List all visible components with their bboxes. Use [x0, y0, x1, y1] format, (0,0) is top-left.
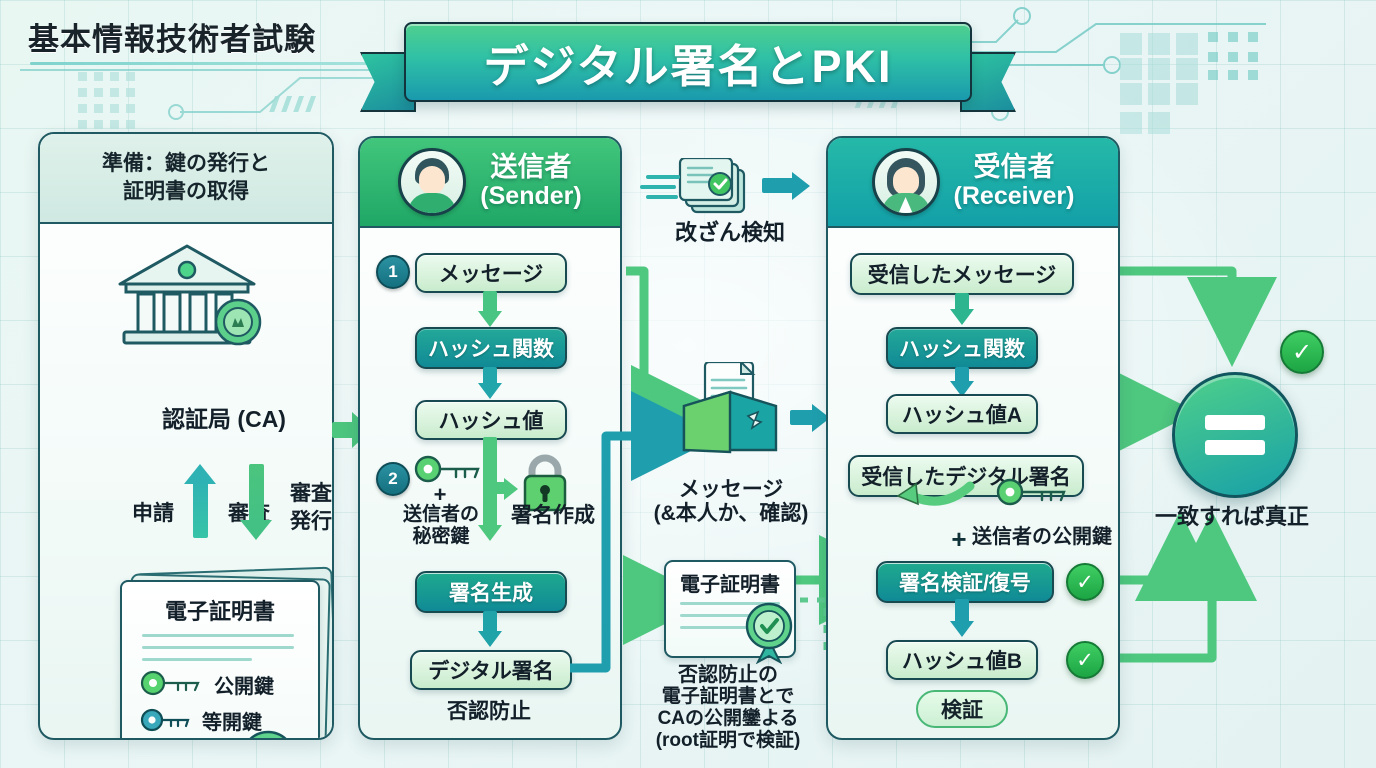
certificate-authority-icon: [112, 240, 262, 350]
public-key-icon: [140, 670, 202, 696]
tamper-detect-label: 改ざん検知: [640, 220, 820, 246]
node-hash-value-a: ハッシュ値A: [886, 394, 1038, 434]
preparation-title-line1: 準備：鍵の発行と: [102, 151, 270, 177]
certificate-rule-2: [142, 646, 294, 649]
result-check-icon: ✓: [1280, 330, 1324, 374]
receiver-title-jp: 受信者: [954, 153, 1075, 183]
certificate-check-seal-icon: [738, 600, 800, 664]
receiver-public-key-label: 送信者の公開鍵: [972, 526, 1152, 550]
sender-avatar: [398, 148, 466, 216]
node-message: メッセージ: [415, 253, 567, 293]
receiver-plus-sign: +: [946, 524, 972, 555]
hashB-check-icon: ✓: [1066, 641, 1104, 679]
equals-symbol: [1205, 415, 1265, 455]
motion-lines-icon: [640, 172, 682, 206]
cert-caption-line4: (root証明で検証): [628, 730, 828, 752]
middle-certificate-card: 電子証明書: [664, 560, 796, 658]
node-hash-value-b: ハッシュ値B: [886, 640, 1038, 680]
ca-label: 認証局 (CA): [78, 406, 334, 433]
message-caption-line1: メッセージ: [636, 478, 826, 503]
node-hash-function-sender: ハッシュ関数: [415, 327, 567, 369]
sender-step-2-badge: 2: [376, 462, 410, 496]
infographic-canvas: 基本情報技術者試験 デジタル署名とPKI 準備：鍵の発行と 証明書の取得: [0, 0, 1376, 768]
sign-creation-label: 署名作成: [498, 504, 608, 529]
ribbon-plate: デジタル署名とPKI: [404, 22, 972, 102]
sender-step-1-badge: 1: [376, 255, 410, 289]
tamper-detect-documents-icon: [676, 158, 756, 220]
receiver-avatar: [872, 148, 940, 216]
private-key-icon: [140, 708, 192, 732]
verify-check-icon: ✓: [1066, 563, 1104, 601]
middle-certificate-title: 電子証明書: [666, 568, 794, 597]
application-label: 申請: [124, 502, 182, 527]
node-hash-function-receiver: ハッシュ関数: [886, 327, 1038, 369]
page-title: 基本情報技術者試験: [28, 14, 316, 59]
sender-header: 送信者 (Sender): [360, 138, 620, 228]
ribbon-title: デジタル署名とPKI: [483, 30, 892, 95]
preparation-title-line2: 証明書の取得: [123, 179, 249, 205]
certificate-rule-1: [142, 634, 294, 637]
public-key-label: 公開鍵: [214, 670, 274, 699]
certificate-title: 電子証明書: [122, 594, 318, 626]
node-signature-generate: 署名生成: [415, 571, 567, 613]
receiver-title: 受信者 (Receiver): [954, 153, 1075, 211]
node-verify-decrypt: 署名検証/復号: [876, 561, 1054, 603]
issue-label: 発行: [276, 510, 334, 535]
sender-title-jp: 送信者: [480, 153, 581, 183]
match-result-circle: [1172, 372, 1298, 498]
node-hash-value-sender: ハッシュ値: [415, 400, 567, 440]
panel-preparation: 準備：鍵の発行と 証明書の取得 認証局 (CA): [38, 132, 334, 740]
certificate-stack: 電子証明書 公開鍵: [118, 570, 334, 740]
sender-nonrepudiation-caption: 否認防止: [410, 700, 568, 725]
sender-title-en: (Sender): [480, 182, 581, 211]
result-caption: 一致すれば真正: [1142, 504, 1322, 530]
message-envelope-icon: [676, 362, 786, 456]
cert-caption-line1: 否認防止の: [628, 664, 828, 688]
receiver-public-key-icon: [996, 478, 1068, 506]
receiver-header: 受信者 (Receiver): [828, 138, 1118, 228]
sender-private-key-label-1: 送信者の: [388, 504, 494, 526]
node-received-message: 受信したメッセージ: [850, 253, 1074, 295]
review-label-right: 審査: [276, 482, 334, 507]
certificate-sheet-front: 電子証明書 公開鍵: [120, 580, 320, 740]
preparation-header: 準備：鍵の発行と 証明書の取得: [40, 134, 332, 224]
receiver-title-en: (Receiver): [954, 182, 1075, 211]
sender-private-key-icon: [414, 455, 482, 483]
sender-title: 送信者 (Sender): [480, 153, 581, 211]
title-ribbon: デジタル署名とPKI: [404, 22, 972, 102]
ca-seal-icon: CA: [230, 726, 306, 740]
curved-arrow-icon: [890, 478, 976, 508]
verification-pill: 検証: [916, 690, 1008, 728]
message-caption-line2: (&本人か、確認): [636, 502, 826, 527]
cert-caption-line3: CAの公開鑾よる: [628, 708, 828, 730]
cert-caption-line2: 電子証明書とで: [628, 686, 828, 708]
node-digital-signature-sender: デジタル署名: [410, 650, 572, 690]
certificate-rule-3: [142, 658, 252, 661]
